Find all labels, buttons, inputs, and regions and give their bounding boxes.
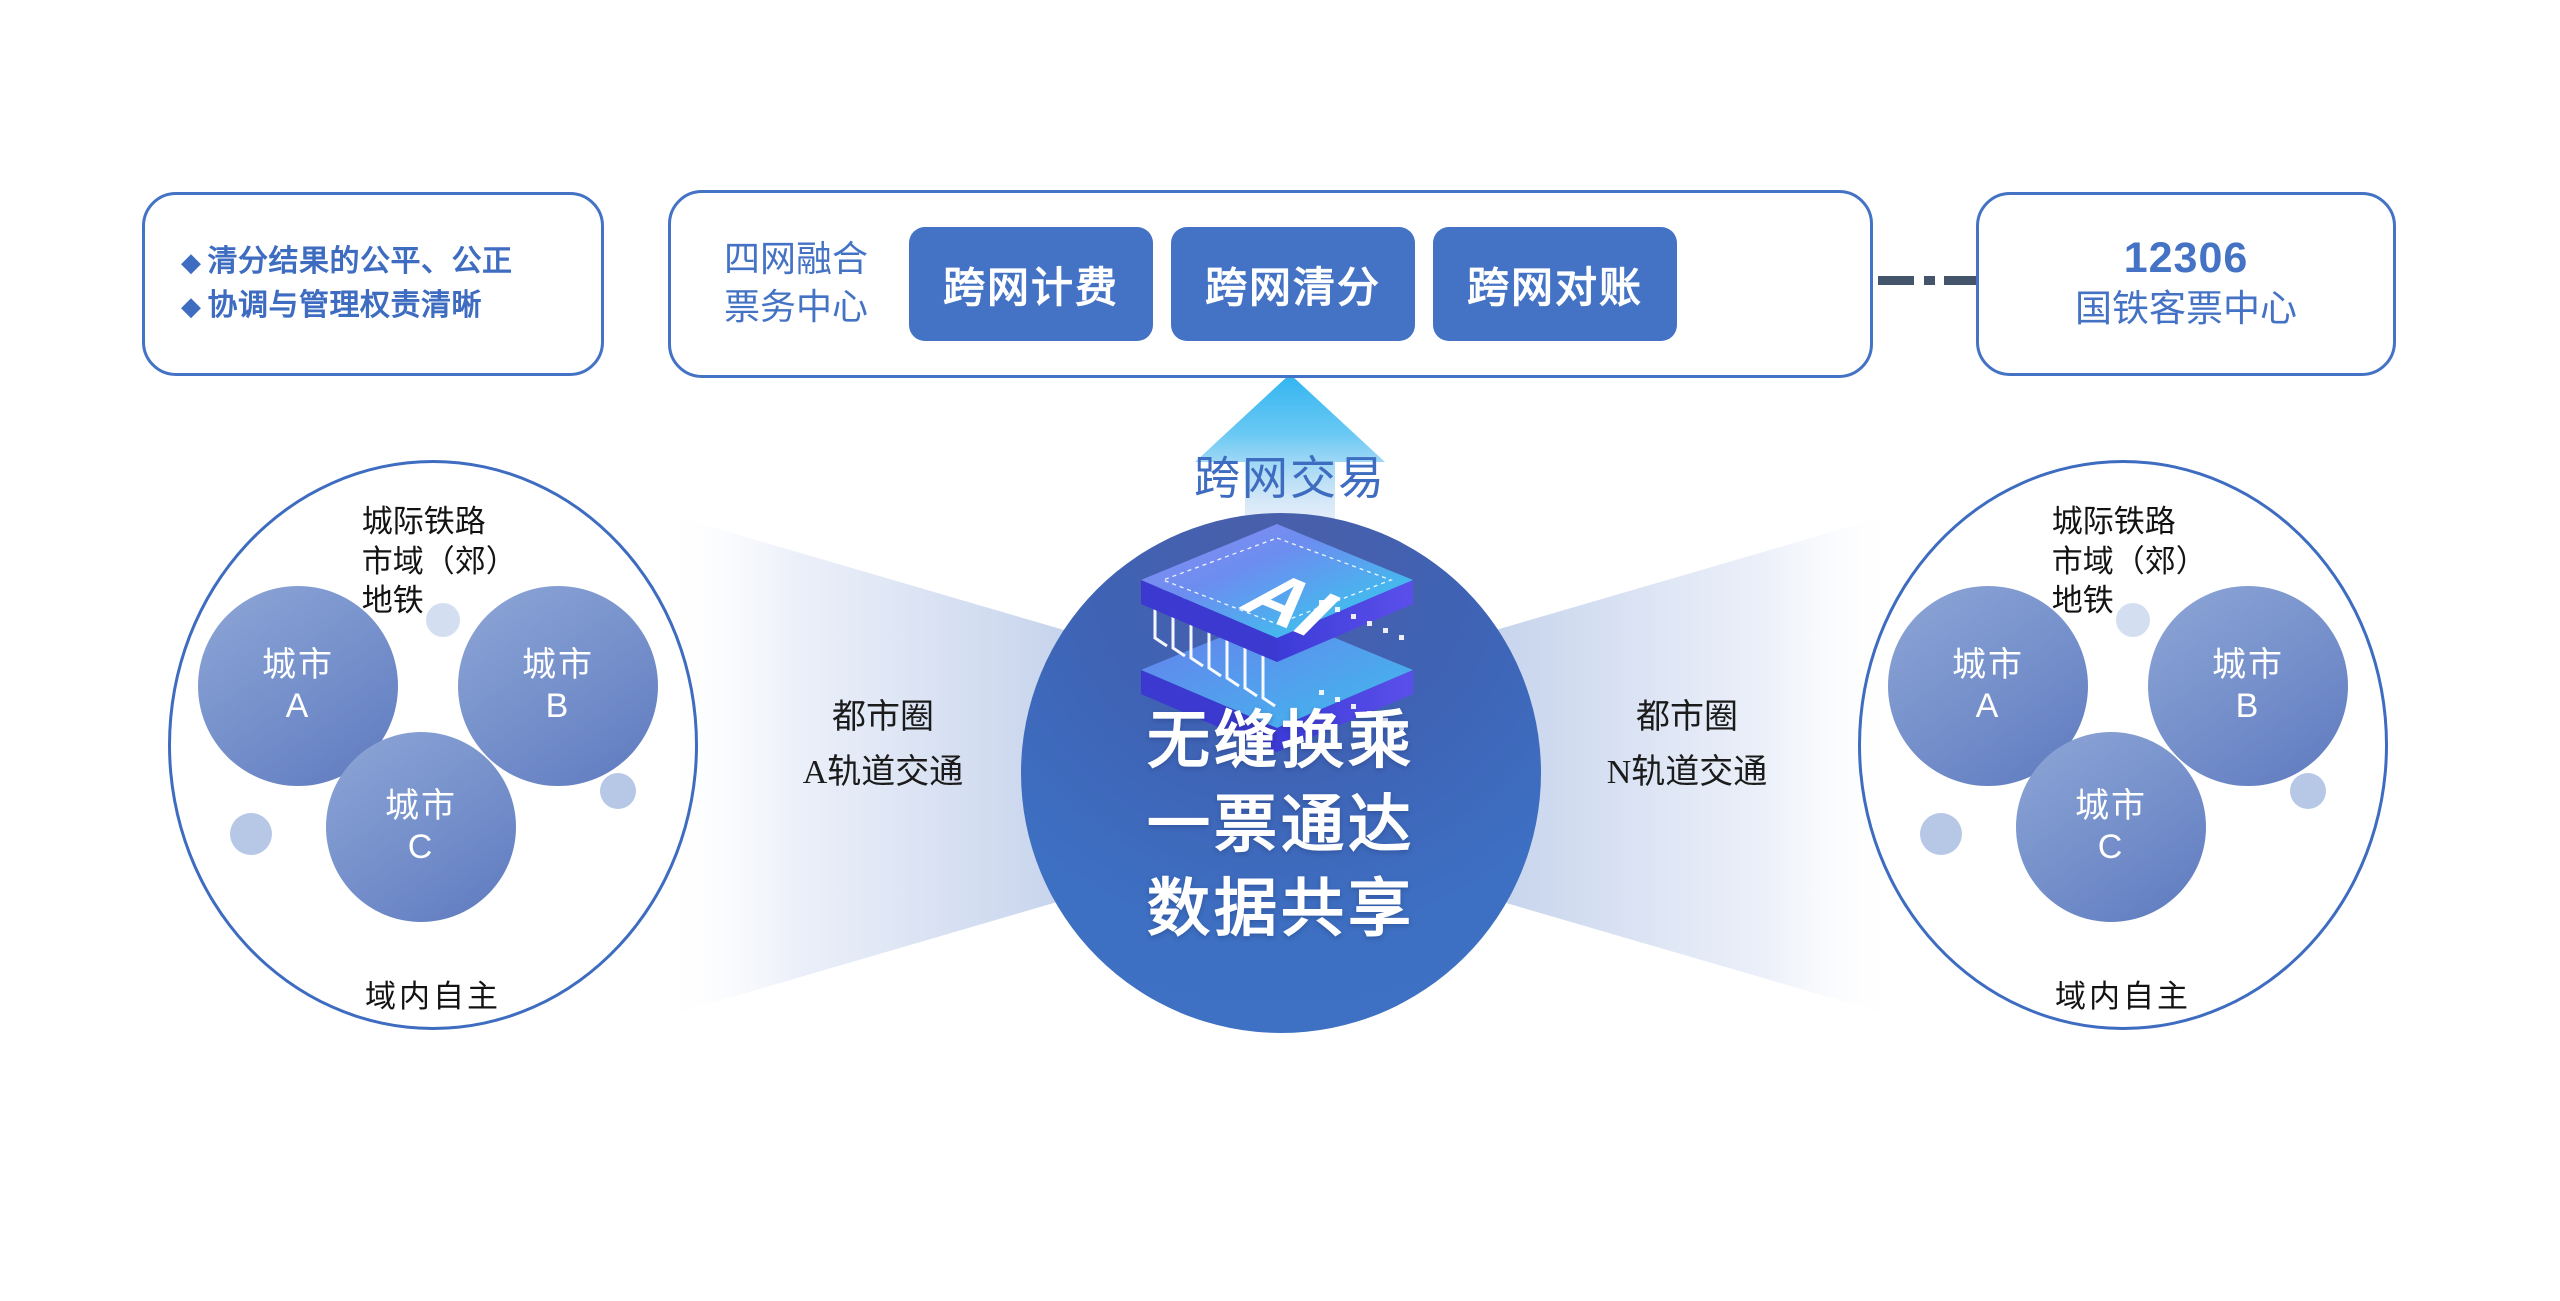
- diamond-bullet-icon: ◆: [181, 247, 202, 277]
- region-left-footer: 域内自主: [168, 971, 698, 1016]
- module-cross-network-reconciliation[interactable]: 跨网对账: [1433, 227, 1677, 341]
- decorative-dot: [426, 603, 460, 637]
- rail-ticket-center-panel: 12306 国铁客票中心: [1976, 192, 2396, 376]
- region-right-footer: 域内自主: [1858, 971, 2388, 1016]
- city-b-code: B: [2236, 686, 2261, 727]
- city-a-code: A: [286, 686, 311, 727]
- city-b-label: 城市: [522, 645, 594, 686]
- principle-text-2: 协调与管理权责清晰: [208, 289, 483, 322]
- decorative-dot: [2116, 603, 2150, 637]
- city-b-label: 城市: [2212, 645, 2284, 686]
- principle-item-2: ◆协调与管理权责清晰: [181, 284, 601, 328]
- module-cross-network-clearing[interactable]: 跨网清分: [1171, 227, 1415, 341]
- city-bubble-c[interactable]: 城市 C: [326, 732, 516, 922]
- rail-center-name: 国铁客票中心: [2075, 287, 2297, 333]
- city-c-code: C: [408, 827, 435, 868]
- region-left: 城际铁路 市域（郊） 地铁 城市 A 城市 B 城市 C 域内自主: [168, 460, 698, 1030]
- region-right: 城际铁路 市域（郊） 地铁 城市 A 城市 B 城市 C 域内自主: [1858, 460, 2388, 1030]
- principle-text-1: 清分结果的公平、公正: [208, 245, 513, 278]
- diagram-canvas: 跨网交易: [0, 0, 2560, 1301]
- ticket-center-title: 四网融合 票务中心: [701, 236, 891, 331]
- city-bubble-b[interactable]: 城市 B: [2148, 586, 2348, 786]
- city-bubble-b[interactable]: 城市 B: [458, 586, 658, 786]
- decorative-dot: [2290, 773, 2326, 809]
- core-slogan: 无缝换乘 一票通达 数据共享: [1021, 700, 1541, 951]
- city-c-label: 城市: [2075, 786, 2147, 827]
- city-a-label: 城市: [1952, 645, 2024, 686]
- dash-dot-connector: [1878, 276, 1978, 285]
- city-a-label: 城市: [262, 645, 334, 686]
- diamond-bullet-icon: ◆: [181, 291, 202, 321]
- decorative-dot: [600, 773, 636, 809]
- city-c-code: C: [2098, 827, 2125, 868]
- metro-area-label-right: 都市圈 N轨道交通: [1552, 690, 1822, 800]
- decorative-dot: [230, 813, 272, 855]
- decorative-dot: [1920, 813, 1962, 855]
- city-bubble-c[interactable]: 城市 C: [2016, 732, 2206, 922]
- metro-area-label-left: 都市圈 A轨道交通: [748, 690, 1018, 800]
- city-a-code: A: [1976, 686, 2001, 727]
- principles-panel: ◆清分结果的公平、公正 ◆协调与管理权责清晰: [142, 192, 604, 376]
- city-b-code: B: [546, 686, 571, 727]
- cross-network-label: 跨网交易: [1115, 442, 1465, 508]
- principle-item-1: ◆清分结果的公平、公正: [181, 240, 601, 284]
- rail-center-number: 12306: [2124, 235, 2249, 282]
- module-cross-network-billing[interactable]: 跨网计费: [909, 227, 1153, 341]
- city-c-label: 城市: [385, 786, 457, 827]
- ticket-center-panel: 四网融合 票务中心 跨网计费 跨网清分 跨网对账: [668, 190, 1873, 378]
